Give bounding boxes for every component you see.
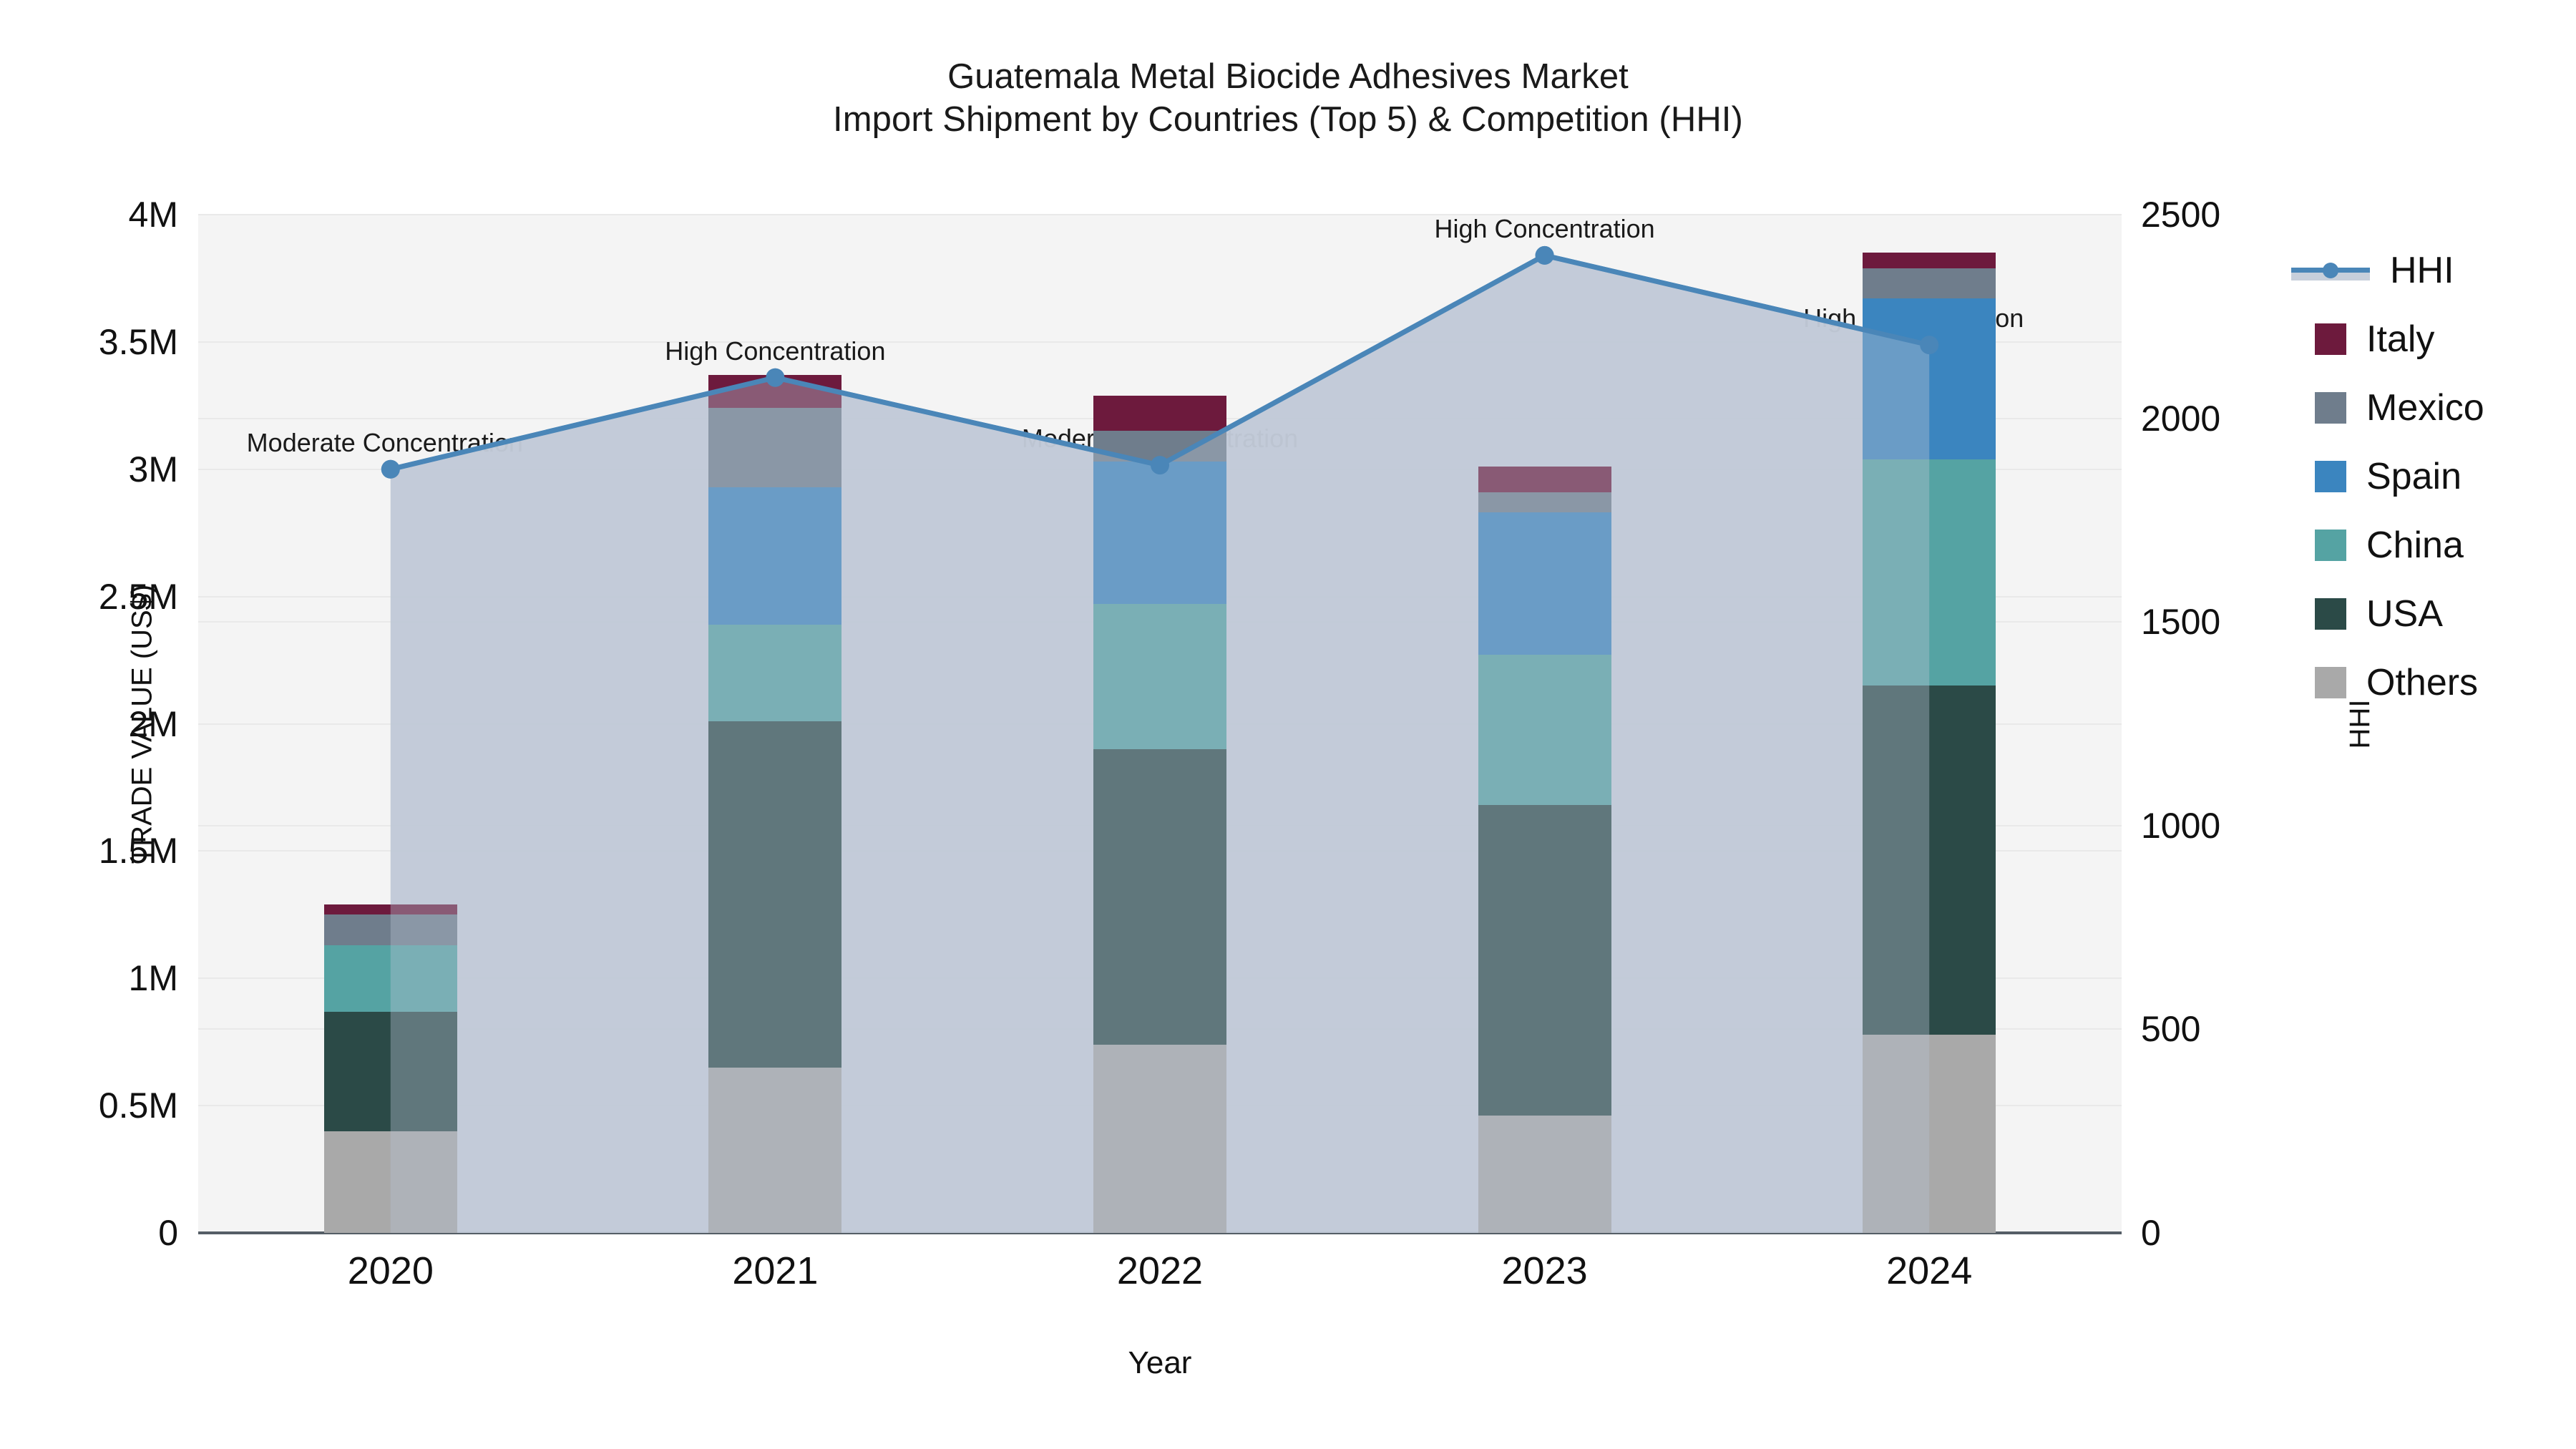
y-tick-right: 1500: [2141, 601, 2327, 643]
bar-stack[interactable]: [1863, 253, 1996, 1233]
bar-segment[interactable]: [708, 408, 841, 487]
y-tick-right: 1000: [2141, 805, 2327, 847]
x-axis-label: Year: [198, 1345, 2122, 1381]
bar-stack[interactable]: [708, 375, 841, 1233]
bar-series-container: [198, 215, 2122, 1233]
legend-item-hhi[interactable]: HHI: [2315, 236, 2572, 305]
legend-swatch-icon: [2315, 667, 2346, 698]
x-tick: 2024: [1786, 1249, 2072, 1293]
legend-label: Others: [2366, 661, 2478, 704]
bar-segment[interactable]: [324, 914, 457, 945]
legend-label: HHI: [2390, 249, 2454, 292]
legend-line-icon: [2291, 255, 2370, 286]
bar-segment[interactable]: [1863, 1035, 1996, 1233]
legend-item-italy[interactable]: Italy: [2315, 305, 2572, 374]
bar-stack[interactable]: [324, 904, 457, 1233]
bar-segment[interactable]: [1863, 686, 1996, 1034]
legend-item-china[interactable]: China: [2315, 511, 2572, 580]
bar-segment[interactable]: [324, 1131, 457, 1233]
bar-segment[interactable]: [708, 625, 841, 721]
legend-label: Mexico: [2366, 386, 2484, 429]
bar-stack[interactable]: [1093, 396, 1226, 1233]
bar-segment[interactable]: [1478, 492, 1611, 512]
bar-segment[interactable]: [1478, 467, 1611, 492]
bar-segment[interactable]: [1093, 462, 1226, 604]
legend-label: Spain: [2366, 455, 2462, 498]
bar-segment[interactable]: [1863, 298, 1996, 459]
y-tick-left: 1M: [0, 957, 178, 999]
x-tick: 2021: [632, 1249, 918, 1293]
bar-stack[interactable]: [1478, 467, 1611, 1233]
legend-item-usa[interactable]: USA: [2315, 580, 2572, 648]
bar-segment[interactable]: [708, 487, 841, 625]
legend-swatch-icon: [2315, 598, 2346, 630]
y-tick-left: 3M: [0, 449, 178, 490]
x-tick: 2020: [248, 1249, 534, 1293]
legend-swatch-icon: [2315, 530, 2346, 561]
y-tick-left: 2.5M: [0, 576, 178, 618]
x-tick: 2023: [1402, 1249, 1688, 1293]
chart-title-line-2: Import Shipment by Countries (Top 5) & C…: [0, 99, 2576, 142]
bar-segment[interactable]: [1093, 431, 1226, 462]
legend-label: China: [2366, 524, 2464, 567]
bar-segment[interactable]: [1093, 396, 1226, 431]
bar-segment[interactable]: [1863, 459, 1996, 686]
legend-label: Italy: [2366, 318, 2434, 361]
bar-segment[interactable]: [1093, 604, 1226, 749]
chart-legend: HHIItalyMexicoSpainChinaUSAOthers: [2315, 236, 2572, 717]
bar-segment[interactable]: [1478, 655, 1611, 805]
bar-segment[interactable]: [708, 375, 841, 408]
y-tick-left: 0.5M: [0, 1085, 178, 1126]
legend-item-mexico[interactable]: Mexico: [2315, 374, 2572, 442]
y-tick-left: 2M: [0, 703, 178, 745]
x-tick: 2022: [1017, 1249, 1303, 1293]
bar-segment[interactable]: [1478, 512, 1611, 655]
bar-segment[interactable]: [324, 904, 457, 914]
legend-swatch-icon: [2315, 392, 2346, 424]
y-tick-left: 0: [0, 1212, 178, 1254]
bar-segment[interactable]: [708, 721, 841, 1068]
bar-segment[interactable]: [1863, 268, 1996, 299]
plot-area: [198, 215, 2122, 1233]
y-tick-left: 1.5M: [0, 830, 178, 872]
bar-segment[interactable]: [1478, 805, 1611, 1116]
y-tick-right: 500: [2141, 1008, 2327, 1050]
bar-segment[interactable]: [1093, 1045, 1226, 1233]
y-tick-left: 4M: [0, 194, 178, 235]
bar-segment[interactable]: [708, 1068, 841, 1233]
y-tick-right: 2500: [2141, 194, 2327, 235]
legend-item-others[interactable]: Others: [2315, 648, 2572, 717]
legend-item-spain[interactable]: Spain: [2315, 442, 2572, 511]
legend-swatch-icon: [2315, 461, 2346, 492]
y-tick-left: 3.5M: [0, 321, 178, 363]
legend-label: USA: [2366, 592, 2443, 635]
bar-segment[interactable]: [1863, 253, 1996, 268]
chart-figure: Guatemala Metal Biocide Adhesives Market…: [0, 0, 2576, 1449]
legend-swatch-icon: [2315, 323, 2346, 355]
chart-title: Guatemala Metal Biocide Adhesives Market…: [0, 56, 2576, 142]
bar-segment[interactable]: [1478, 1116, 1611, 1233]
y-tick-right: 2000: [2141, 398, 2327, 439]
y-tick-right: 0: [2141, 1212, 2327, 1254]
bar-segment[interactable]: [1093, 749, 1226, 1045]
chart-title-line-1: Guatemala Metal Biocide Adhesives Market: [0, 56, 2576, 99]
bar-segment[interactable]: [324, 1012, 457, 1131]
bar-segment[interactable]: [324, 945, 457, 1011]
